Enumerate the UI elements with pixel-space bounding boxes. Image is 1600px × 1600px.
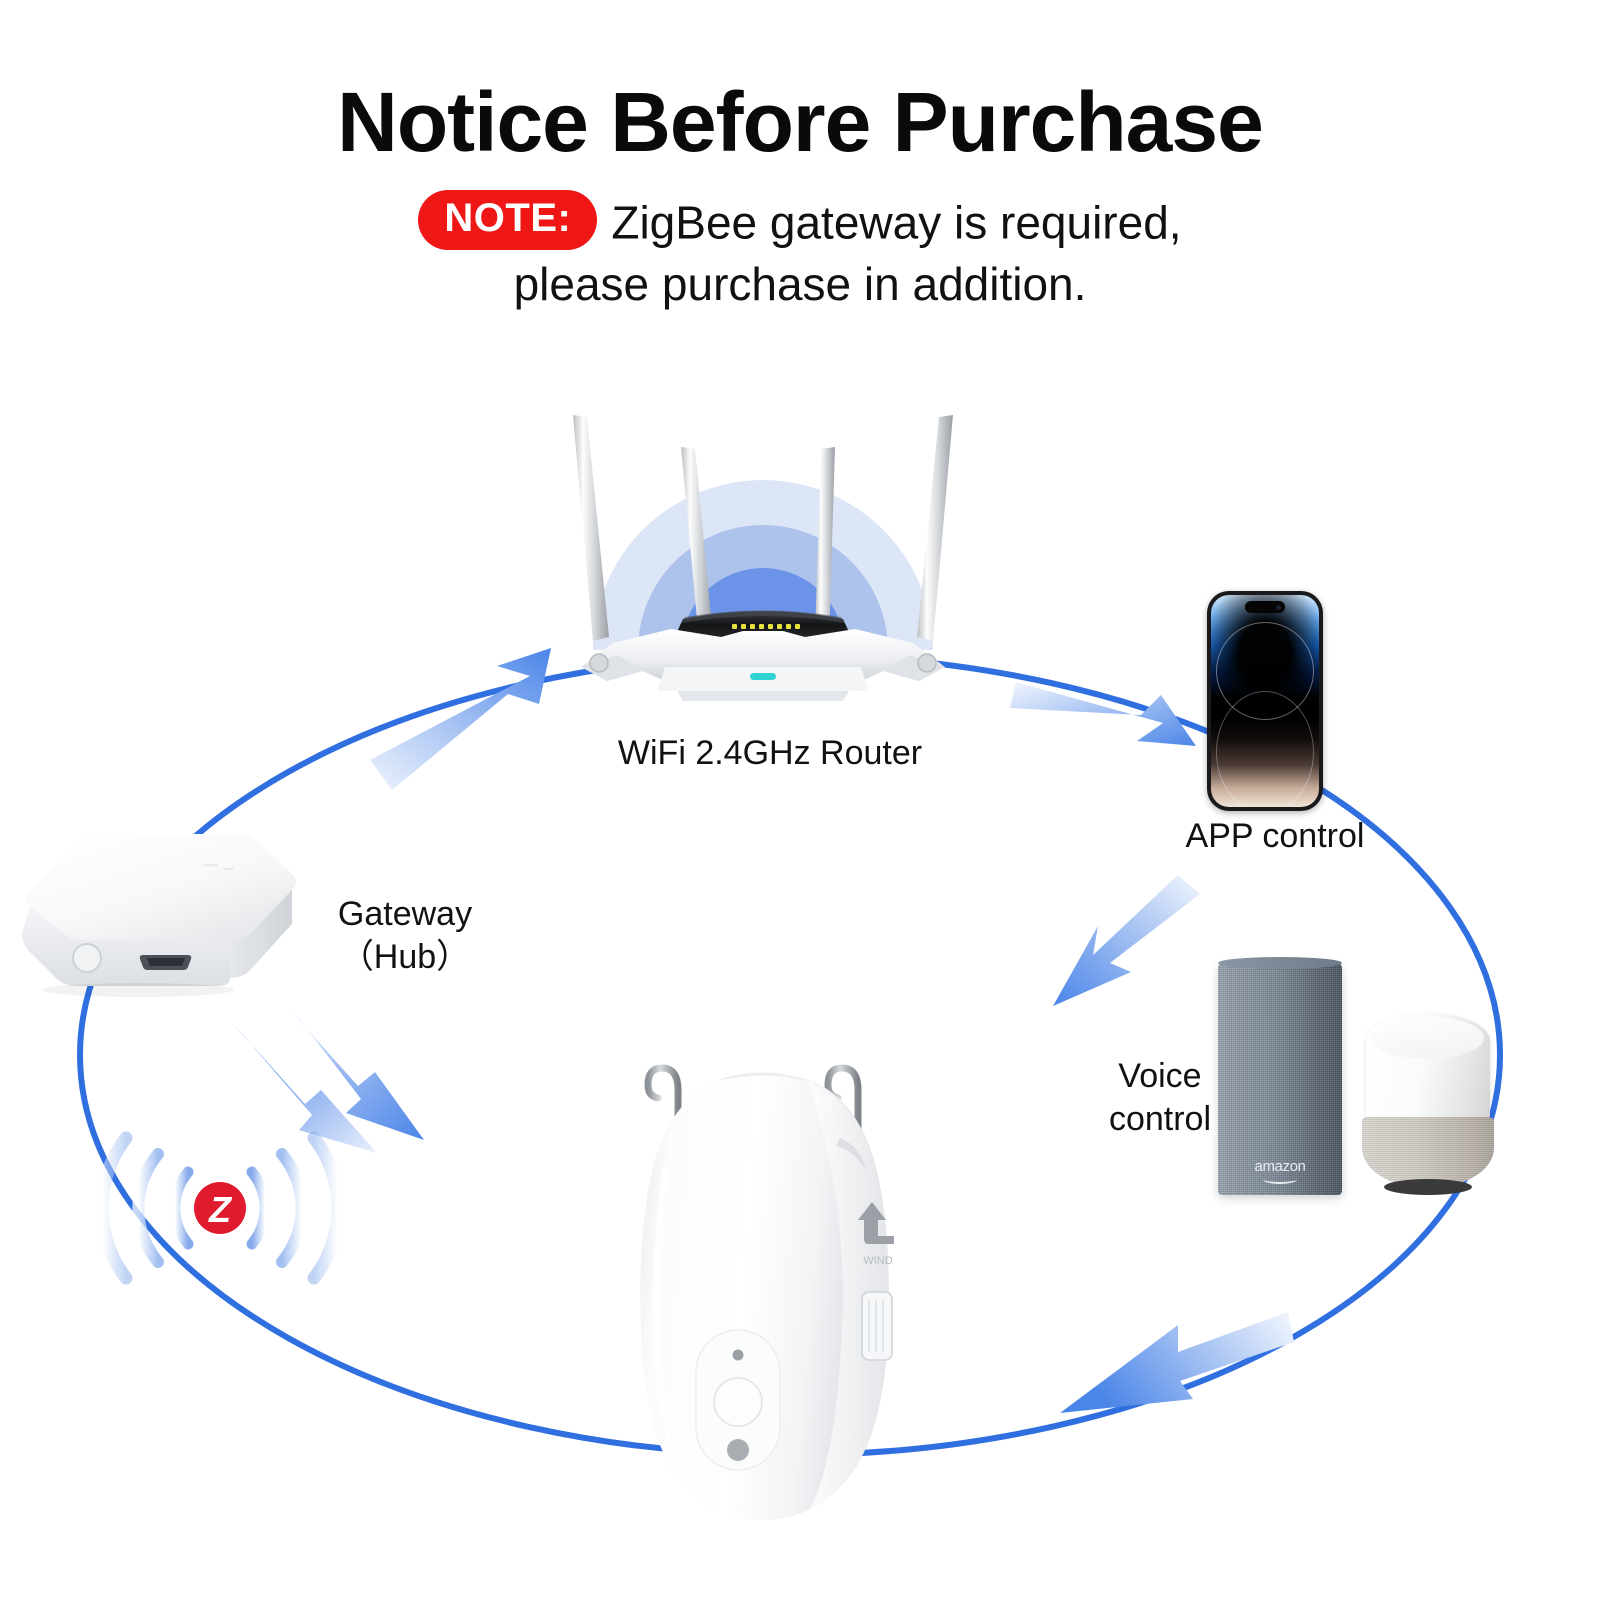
motor-control-pad <box>696 1330 780 1470</box>
motor-light-sensor <box>727 1439 749 1461</box>
arrow-voice-to-motor <box>1060 1312 1294 1413</box>
smartphone-icon <box>1207 591 1323 811</box>
zigbee-signal-icon: Z <box>80 1110 370 1305</box>
label-app-control: APP control <box>1155 815 1395 858</box>
zigbee-waves-left <box>102 1138 188 1278</box>
label-router: WiFi 2.4GHz Router <box>600 732 940 775</box>
motor-status-led <box>733 1350 744 1361</box>
gateway-top-face <box>26 834 296 940</box>
motor-slider-switch <box>862 1292 892 1360</box>
ecosystem-diagram: Z amazon <box>0 0 1600 1600</box>
echo-body: amazon <box>1218 963 1342 1195</box>
echo-top-surface <box>1218 957 1342 969</box>
label-voice-control: Voice control <box>1085 1055 1235 1140</box>
phone-screen <box>1211 595 1319 807</box>
google-home-speaker-icon <box>1362 1013 1494 1195</box>
motor-pair-button <box>714 1378 762 1426</box>
zigbee-logo-badge: Z <box>194 1182 246 1234</box>
wallpaper-arc-bottom <box>1216 691 1314 807</box>
label-gateway: Gateway （Hub） <box>305 893 505 978</box>
svg-text:Z: Z <box>208 1189 233 1230</box>
google-home-top <box>1366 1013 1490 1121</box>
amazon-logo: amazon <box>1218 1158 1342 1184</box>
wifi-router-icon <box>553 405 973 705</box>
arrow-router-to-phone <box>1010 682 1196 746</box>
motor-direction-label: WIND <box>863 1255 892 1267</box>
gateway-usb-port <box>140 955 191 970</box>
router-power-led <box>750 673 776 680</box>
google-home-base <box>1362 1117 1494 1187</box>
zigbee-waves-right <box>252 1138 338 1278</box>
phone-body <box>1207 591 1323 811</box>
arrow-phone-to-voice <box>1053 875 1200 1006</box>
gateway-hub-icon <box>18 828 308 1003</box>
gateway-reset-button <box>73 944 101 972</box>
google-home-foot <box>1384 1179 1472 1195</box>
amazon-echo-speaker-icon: amazon <box>1218 963 1342 1195</box>
curtain-motor-icon: WIND <box>610 1030 920 1530</box>
dynamic-island <box>1245 601 1285 613</box>
